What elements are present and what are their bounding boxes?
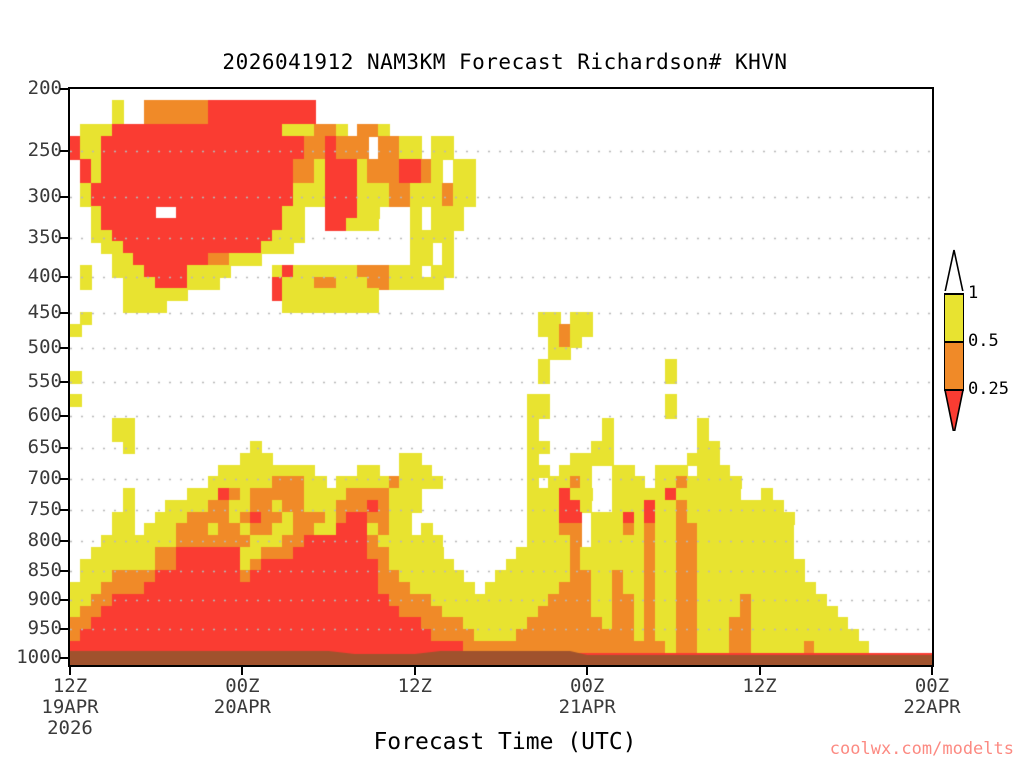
x-tick-label-group: 00Z20APR [172,676,312,718]
x-tick-label-group: 00Z21APR [517,676,657,718]
x-tick-mark [69,667,71,675]
x-tick-mark [414,667,416,675]
x-tick-label-time: 12Z [0,676,140,697]
x-tick-label-time: 00Z [172,676,312,697]
x-tick-label-date: 22APR [862,697,1002,718]
x-tick-label-time: 12Z [690,676,830,697]
colorbar-arrow-below-min [944,389,964,431]
x-tick-label-group: 12Z [690,676,830,697]
colorbar-tick-rule [944,389,964,391]
x-tick-label-date: 20APR [172,697,312,718]
x-tick-label-time: 00Z [517,676,657,697]
colorbar-tick-label: 0.5 [968,333,999,350]
chart-page: 2026041912 NAM3KM Forecast Richardson# K… [0,0,1024,768]
colorbar-segment-orange [944,341,964,389]
x-tick-label-time: 12Z [345,676,485,697]
colorbar-legend: 10.50.25 [944,293,964,475]
colorbar-tick-rule [944,341,964,343]
colorbar-tick-label: 1 [968,285,978,302]
watermark: coolwx.com/modelts [830,739,1014,759]
x-tick-label-date: 19APR [0,697,140,718]
x-tick-label-group: 00Z22APR [862,676,1002,718]
x-tick-label-group: 12Z [345,676,485,697]
colorbar-tick-rule [944,293,964,295]
colorbar-arrow-above-max [944,249,964,291]
x-tick-label-date: 21APR [517,697,657,718]
x-axis: 12Z19APR202600Z20APR12Z00Z21APR12Z00Z22A… [0,0,1024,768]
colorbar-segment-yellow [944,293,964,341]
colorbar-tick-label: 0.25 [968,381,1009,398]
x-tick-mark [931,667,933,675]
x-tick-label-time: 00Z [862,676,1002,697]
x-tick-mark [586,667,588,675]
x-tick-mark [241,667,243,675]
x-tick-mark [759,667,761,675]
